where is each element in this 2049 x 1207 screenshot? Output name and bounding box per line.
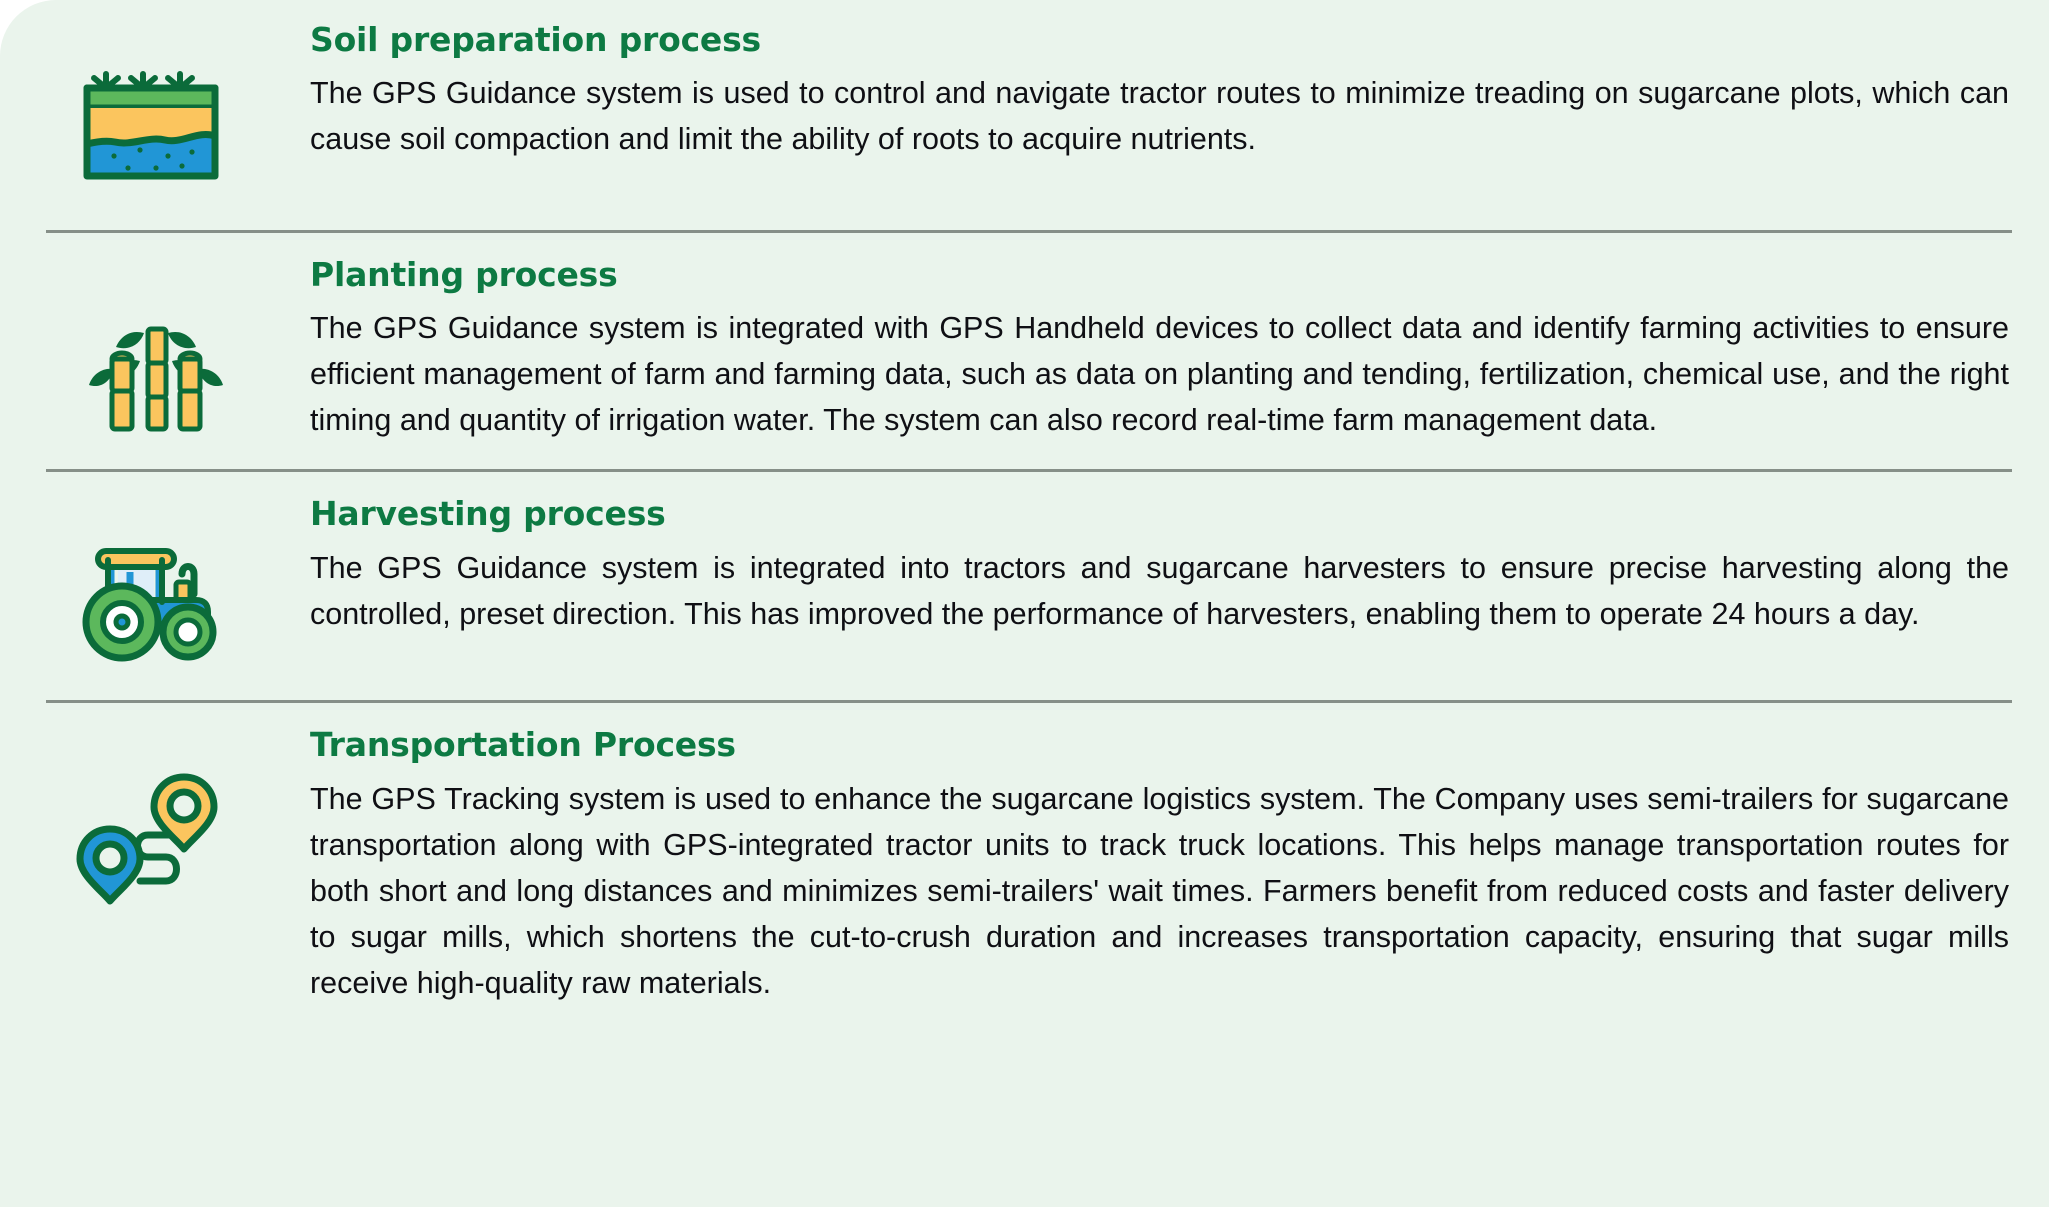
sugarcane-plants-icon [70, 285, 240, 435]
process-section-harvesting: Harvesting process The GPS Guidance syst… [0, 472, 2049, 700]
soil-layers-icon [70, 52, 240, 202]
section-body: The GPS Guidance system is integrated wi… [310, 305, 2009, 443]
process-section-soil-preparation: Soil preparation process The GPS Guidanc… [0, 0, 2049, 230]
text-cell: Planting process The GPS Guidance system… [310, 257, 2049, 443]
icon-cell [0, 496, 310, 672]
text-cell: Harvesting process The GPS Guidance syst… [310, 496, 2049, 636]
section-body: The GPS Guidance system is used to contr… [310, 70, 2009, 162]
tractor-icon [70, 522, 240, 672]
icon-cell [0, 257, 310, 435]
text-cell: Transportation Process The GPS Tracking … [310, 727, 2049, 1005]
icon-cell [0, 727, 310, 911]
process-section-planting: Planting process The GPS Guidance system… [0, 233, 2049, 469]
section-body: The GPS Guidance system is integrated in… [310, 545, 2009, 637]
process-list-panel: Soil preparation process The GPS Guidanc… [0, 0, 2049, 1207]
section-title: Soil preparation process [310, 22, 2009, 58]
section-body: The GPS Tracking system is used to enhan… [310, 776, 2009, 1006]
section-title: Planting process [310, 257, 2009, 293]
text-cell: Soil preparation process The GPS Guidanc… [310, 22, 2049, 162]
map-route-pins-icon [70, 761, 240, 911]
icon-cell [0, 22, 310, 202]
process-section-transportation: Transportation Process The GPS Tracking … [0, 703, 2049, 1025]
section-title: Harvesting process [310, 496, 2009, 532]
section-title: Transportation Process [310, 727, 2009, 763]
